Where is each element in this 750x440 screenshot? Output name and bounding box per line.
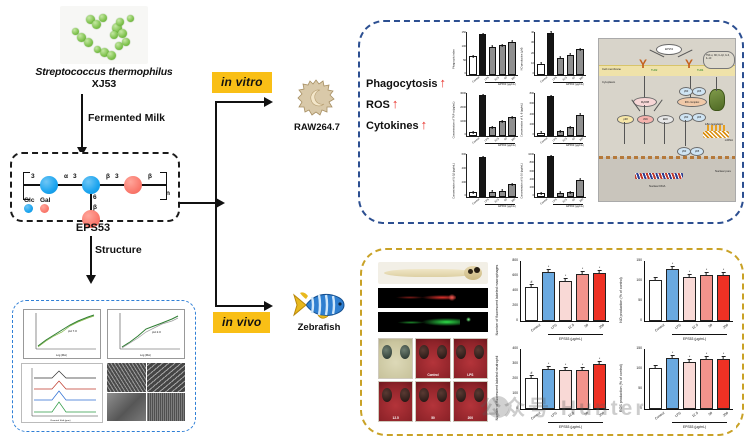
error-bar — [565, 367, 566, 371]
x-axis — [520, 409, 609, 410]
pathway-p50-upper: p50 — [679, 87, 693, 96]
x-tick-label: LPS — [484, 198, 492, 206]
svg-text:pH 7.0: pH 7.0 — [68, 329, 77, 333]
pathway-jnk: JNK — [637, 115, 654, 124]
significance-marker: * — [548, 265, 549, 269]
effect-label: Phagocytosis — [366, 78, 438, 90]
significance-marker: * — [672, 262, 673, 266]
group-label: EPS53 (μg/mL) — [566, 83, 584, 86]
y-axis-label: NO production (μM) — [521, 36, 524, 82]
effect-label: ROS — [366, 99, 390, 111]
in-vitro-chart-grid: Phagocytic index 150100500 * * * * * — [455, 30, 591, 212]
bar: * — [469, 192, 476, 197]
head-panel-dose-mid: 50 — [415, 381, 450, 422]
significance-marker: * — [512, 40, 513, 44]
error-bar — [723, 356, 724, 360]
sem-image-grid — [107, 363, 185, 421]
error-bar — [565, 278, 566, 282]
significance-marker: * — [560, 191, 561, 195]
group-label: EPS53 (μg/mL) — [683, 337, 706, 341]
significance-marker: * — [512, 182, 513, 186]
bar — [649, 280, 662, 321]
invitro-bar-chart: NO production (μM) 403020100 * * * * * — [523, 30, 587, 87]
mrna-strand — [703, 131, 729, 138]
significance-marker: * — [502, 43, 503, 47]
x-tick-label: LPS — [675, 323, 686, 335]
error-bar — [655, 365, 656, 369]
bar: * — [547, 33, 554, 75]
bar: * — [666, 269, 679, 321]
bar: # — [525, 287, 538, 321]
bar: * — [717, 275, 730, 321]
y-axis — [520, 349, 521, 410]
error-bar — [672, 266, 673, 270]
bar: * — [683, 362, 696, 409]
pathway-p50-mid: p50 — [679, 113, 693, 122]
significance-marker: * — [472, 190, 473, 194]
strain-name: Streptococcus thermophilus — [8, 66, 200, 78]
x-tick-label: 50 — [708, 411, 717, 421]
x-tick-label: LPS — [484, 137, 492, 145]
bar-series: # * * * — [523, 262, 608, 321]
bar: * — [499, 121, 506, 136]
bar: * — [537, 133, 544, 136]
x-tick-label: Control — [540, 198, 550, 208]
invitro-bar-chart: Phagocytic index 150100500 * * * * * — [455, 30, 519, 87]
significance-marker: * — [550, 94, 551, 98]
x-tick-label: 200 — [722, 323, 732, 334]
head-panel-dose-low: 12.5 — [378, 381, 413, 422]
head-panel-untreated — [378, 338, 413, 379]
pathway-p65-mid: p65 — [692, 113, 706, 122]
characterization-panel: pH 7.0 Log (Mw) pH 2.0 Log (Mw) Chemical… — [12, 300, 196, 432]
effect-cytokines: Cytokines ↑ — [366, 120, 466, 132]
bar: * — [557, 58, 564, 75]
significance-marker: * — [482, 32, 483, 36]
bar: * — [542, 369, 555, 409]
bar-series: * * * * — [647, 350, 732, 409]
y-axis-label: Concentration of IL-6 (pg/mL) — [521, 97, 524, 143]
x-tick-label: 200 — [598, 411, 608, 422]
significance-marker: * — [580, 178, 581, 182]
y-axis — [644, 261, 645, 322]
bar: * — [469, 132, 476, 136]
significance-marker: * — [548, 362, 549, 366]
nmr-spectra-panel: Chemical Shift (ppm) — [21, 363, 103, 423]
x-tick-label: 12.5 — [691, 323, 702, 335]
bar: * — [537, 193, 544, 197]
signaling-pathway-figure: Cell membrane Cytoplasm EPS53 Y Y TLR2 T… — [598, 38, 736, 202]
y-tick-labels: 150100500 — [624, 259, 642, 322]
bar: * — [567, 127, 574, 136]
x-tick-label: Control — [472, 76, 482, 86]
in-vivo-chart-grid: Number of fluorescent labeled macrophage… — [494, 258, 740, 430]
significance-marker: * — [472, 54, 473, 58]
y-axis-label: Concentration of IL-10 (pg/mL) — [521, 158, 524, 204]
structure-arrow — [90, 236, 92, 276]
bar-series: * * * * * — [536, 155, 585, 197]
x-tick-label: LPS — [484, 76, 492, 84]
x-tick-label: 50 — [708, 323, 717, 333]
y-axis — [534, 93, 535, 137]
y-tick-labels: 8006004002000 — [500, 259, 518, 322]
bar: * — [542, 272, 555, 321]
x-tick-label: 12.5 — [691, 411, 702, 423]
bar: * — [700, 359, 713, 409]
x-tick-label: Control — [472, 137, 482, 147]
significance-marker: * — [560, 129, 561, 133]
sem-image-3 — [107, 393, 146, 422]
x-tick-label: Control — [654, 323, 669, 338]
bar: * — [576, 49, 583, 75]
head-panel-control: Control — [415, 338, 450, 379]
significance-marker: * — [582, 363, 583, 367]
significance-marker: * — [550, 30, 551, 34]
pathway-erk: ERK — [657, 115, 674, 124]
y-axis-label: ROS production (% of control) — [619, 343, 623, 433]
group-label: EPS53 (μg/mL) — [498, 144, 516, 147]
significance-marker: * — [472, 130, 473, 134]
significance-marker: * — [706, 268, 707, 272]
invivo-bar-chart: NO production (% of control) 150100500 * — [618, 258, 736, 342]
mrna-label: mRNA — [725, 138, 733, 142]
significance-marker: * — [492, 125, 493, 129]
error-bar — [706, 272, 707, 276]
gpc-plot-ph2: pH 2.0 Log (Mw) — [107, 309, 185, 359]
significance-marker: * — [540, 191, 541, 195]
x-tick-label: LPS — [552, 198, 560, 206]
error-bar — [548, 269, 549, 273]
error-bar — [689, 359, 690, 363]
head-panel-dose-high: 200 — [453, 381, 488, 422]
pathway-p50-nuclear: p50 — [677, 147, 691, 156]
eps-to-branch-arrow — [178, 202, 216, 204]
significance-marker: * — [512, 115, 513, 119]
x-tick-labels: ControlLPS12.550200 — [647, 411, 732, 421]
bar: * — [469, 56, 476, 75]
head-panel-caption: Control — [416, 373, 449, 377]
legend-swatch-glc — [24, 204, 33, 213]
significance-marker: * — [599, 266, 600, 270]
invitro-bar-chart: Concentration of IL-10 (pg/mL) 100080060… — [523, 152, 587, 209]
invivo-bar-chart: Number of fluorescent labeled macrophage… — [494, 258, 612, 342]
neutrophil-green-fluorescence-image — [378, 312, 488, 332]
nuclear-dna-label: Nuclear DNA — [649, 184, 665, 188]
bar: # — [525, 378, 538, 409]
error-bar — [599, 270, 600, 274]
bar: * — [717, 359, 730, 409]
bar: * — [576, 115, 583, 136]
x-tick-label: LPS — [552, 137, 560, 145]
invivo-bar-chart: Number of fluorescent labeled neutrophil… — [494, 346, 612, 430]
error-bar — [582, 367, 583, 371]
bar: * — [489, 192, 496, 197]
error-bar — [599, 361, 600, 365]
invitro-bar-chart: Concentration of IL-1β (pg/mL) 600400200… — [455, 152, 519, 209]
x-tick-label: Control — [540, 137, 550, 147]
macrophage-red-fluorescence-image — [378, 288, 488, 308]
bar: * — [479, 34, 486, 75]
bar: * — [559, 281, 572, 321]
bar: * — [489, 47, 496, 75]
invitro-bar-chart: Concentration of IL-6 (pg/mL) 8006004002… — [523, 91, 587, 148]
raw-cell-label: RAW264.7 — [278, 122, 356, 133]
sem-image-4 — [147, 393, 186, 422]
head-panel-caption: 50 — [416, 416, 449, 420]
group-label: EPS53 (μg/mL) — [566, 144, 584, 147]
tag-in-vivo: in vivo — [213, 312, 270, 333]
up-arrow-icon: ↑ — [421, 120, 428, 130]
svg-text:pH 2.0: pH 2.0 — [152, 330, 161, 334]
bar: * — [593, 273, 606, 321]
significance-marker: * — [582, 267, 583, 271]
bar: * — [700, 275, 713, 321]
significance-marker: * — [492, 189, 493, 193]
significance-marker: * — [550, 154, 551, 158]
bar: * — [479, 157, 486, 197]
svg-text:Chemical Shift (ppm): Chemical Shift (ppm) — [50, 419, 71, 422]
error-bar — [531, 284, 532, 288]
x-tick-label: 50 — [584, 323, 593, 333]
x-axis — [644, 409, 733, 410]
bar-series: * * * * * — [468, 33, 517, 75]
bar-series: * * * * * — [468, 155, 517, 197]
y-axis — [520, 261, 521, 322]
x-tick-label: 12.5 — [567, 323, 578, 335]
error-bar — [706, 356, 707, 360]
bar: * — [557, 193, 564, 197]
significance-marker: * — [492, 45, 493, 49]
significance-marker: * — [672, 351, 673, 355]
sugar-glucose-1 — [40, 176, 58, 194]
in-vitro-effects-list: Phagocytosis ↑ ROS ↑ Cytokines ↑ — [366, 78, 466, 141]
significance-marker: * — [689, 355, 690, 359]
significance-marker: * — [706, 352, 707, 356]
bar: * — [683, 277, 696, 321]
error-bar — [548, 366, 549, 370]
head-panel-caption: 12.5 — [379, 416, 412, 420]
y-axis — [466, 154, 467, 198]
group-label: EPS53 (μg/mL) — [566, 205, 584, 208]
y-axis-label: Number of fluorescent labeled neutrophil — [495, 343, 499, 433]
zebrafish-icon — [290, 290, 346, 320]
effect-ros: ROS ↑ — [366, 99, 466, 111]
bar: * — [508, 184, 515, 197]
structure-label: Structure — [95, 244, 142, 256]
x-tick-label: LPS — [675, 411, 686, 423]
x-tick-labels: ControlLPS12.550200 — [647, 323, 732, 333]
svg-text:Log (Mw): Log (Mw) — [140, 353, 151, 357]
x-tick-label: Control — [530, 323, 545, 338]
bar: * — [489, 127, 496, 136]
significance-marker: * — [570, 190, 571, 194]
bar: * — [479, 95, 486, 136]
legend-swatch-gal — [40, 204, 49, 213]
zebrafish-head-image-grid: Control LPS 12.5 50 200 — [378, 338, 488, 422]
zebrafish-label: Zebrafish — [282, 322, 356, 333]
bar: * — [547, 156, 554, 197]
macrophage-cell-icon — [296, 78, 336, 118]
bar: * — [537, 64, 544, 75]
zebrafish-brightfield-image — [378, 262, 488, 284]
up-arrow-icon: ↑ — [440, 78, 447, 88]
fermentation-arrow — [81, 94, 83, 148]
bar: * — [559, 370, 572, 409]
head-panel-lps: LPS — [453, 338, 488, 379]
head-panel-caption: LPS — [454, 373, 487, 377]
significance-marker: # — [531, 280, 533, 284]
error-bar — [655, 277, 656, 281]
y-tick-labels: 8006004002000 — [525, 93, 534, 137]
y-tick-labels: 403020100 — [525, 32, 534, 76]
ribosome-er-icon — [709, 89, 725, 111]
tag-in-vitro: in vitro — [212, 72, 272, 93]
y-axis — [466, 32, 467, 76]
x-tick-label: 200 — [722, 411, 732, 422]
y-axis — [534, 32, 535, 76]
bar: * — [508, 117, 515, 136]
significance-marker: * — [580, 47, 581, 51]
gpc-plot-ph7: pH 7.0 Log (Mw) — [23, 309, 101, 359]
bar: * — [508, 42, 515, 75]
bar: * — [567, 55, 574, 75]
effect-label: Cytokines — [366, 120, 419, 132]
group-label: EPS53 (μg/mL) — [559, 337, 582, 341]
y-axis-label: NO production (% of control) — [619, 255, 623, 345]
pathway-p38: p38 — [617, 115, 634, 124]
pathway-ligand-eps53: EPS53 — [656, 44, 682, 55]
svg-text:Log (Mw): Log (Mw) — [56, 353, 67, 357]
bar: * — [593, 364, 606, 409]
receptor-tlr4-icon: Y — [685, 59, 693, 69]
significance-marker: * — [540, 61, 541, 65]
error-bar — [723, 272, 724, 276]
error-bar — [672, 355, 673, 359]
eps53-structure-diagram: n 3 α 3 β 3 β 6 β Glc Gal — [10, 152, 180, 222]
streptococcus-image — [60, 6, 148, 64]
cell-membrane-label: Cell membrane — [602, 67, 621, 71]
x-axis — [644, 321, 733, 322]
cytoplasm-label: Cytoplasm — [602, 80, 615, 84]
bar: * — [499, 191, 506, 197]
bar: * — [666, 358, 679, 409]
y-tick-labels: 6004002000 — [457, 154, 466, 198]
sugar-glucose-2 — [82, 176, 100, 194]
invitro-bar-chart: Concentration of TNF-α (pg/mL) 300020001… — [455, 91, 519, 148]
error-bar — [689, 274, 690, 278]
significance-marker: * — [570, 52, 571, 56]
significance-marker: * — [482, 155, 483, 159]
y-axis-label: Phagocytic index — [453, 36, 456, 82]
bar-series: * * * * * — [536, 33, 585, 75]
legend-label-gal: Gal — [40, 197, 50, 204]
bar-series: * * * * * — [468, 94, 517, 136]
sem-image-2 — [147, 363, 186, 392]
y-axis-label: Number of fluorescent labeled macrophage… — [495, 255, 499, 345]
significance-marker: * — [723, 268, 724, 272]
in-vitro-branch-arrow — [215, 101, 264, 103]
y-tick-labels: 150100500 — [624, 347, 642, 410]
pathway-p65-nuclear: p65 — [690, 147, 704, 156]
y-axis — [644, 349, 645, 410]
x-tick-label: LPS — [551, 411, 562, 423]
up-arrow-icon: ↑ — [392, 99, 399, 109]
receptor-tlr2-icon: Y — [639, 59, 647, 69]
y-tick-labels: 3000200010000 — [457, 93, 466, 137]
legend-label-glc: Glc — [24, 197, 34, 204]
x-tick-label: Control — [530, 411, 545, 426]
receptor-tlr4-label: TLR4 — [697, 69, 703, 72]
bar-series: # * * * — [523, 350, 608, 409]
flow-trunk — [215, 101, 217, 307]
sem-image-1 — [107, 363, 146, 392]
bar: * — [576, 274, 589, 321]
x-axis — [520, 321, 609, 322]
y-tick-labels: 150100500 — [457, 32, 466, 76]
significance-marker: * — [580, 112, 581, 116]
significance-marker: * — [565, 274, 566, 278]
bar: * — [567, 192, 574, 197]
bar — [649, 368, 662, 409]
bar: * — [576, 370, 589, 409]
pathway-ikk-complex: IKK complex — [677, 97, 707, 107]
significance-marker: * — [599, 357, 600, 361]
bar: * — [557, 131, 564, 136]
significance-marker: * — [540, 130, 541, 134]
cytokine-output-cloud: TNF-α, NO, IL-1β, IL-6, IL-10 — [703, 51, 735, 69]
invivo-bar-chart: ROS production (% of control) 150100500 … — [618, 346, 736, 430]
bar: * — [547, 96, 554, 136]
group-label: EPS53 (μg/mL) — [498, 83, 516, 86]
error-bar — [531, 375, 532, 379]
x-tick-label: LPS — [552, 76, 560, 84]
x-tick-label: LPS — [551, 323, 562, 335]
nuclear-dna-helix — [635, 173, 683, 179]
x-tick-label: 50 — [584, 411, 593, 421]
significance-marker: * — [502, 188, 503, 192]
watermark-logo — [487, 396, 509, 418]
bar: * — [576, 180, 583, 197]
head-panel-caption: 200 — [454, 416, 487, 420]
x-tick-label: 12.5 — [567, 411, 578, 423]
significance-marker: * — [482, 93, 483, 97]
in-vivo-branch-arrow — [215, 305, 264, 307]
y-axis-label: Concentration of TNF-α (pg/mL) — [453, 97, 456, 143]
bar-series: * * * * — [647, 262, 732, 321]
x-tick-labels: ControlLPS12.550200 — [523, 323, 608, 333]
significance-marker: * — [565, 363, 566, 367]
x-tick-label: Control — [654, 411, 669, 426]
cytokine-cloud-text: TNF-α, NO, IL-1β, IL-6, IL-10 — [706, 55, 733, 61]
bar: * — [499, 45, 506, 75]
sugar-galactose-1 — [124, 176, 142, 194]
y-axis — [534, 154, 535, 198]
strain-code: XJ53 — [8, 78, 200, 90]
error-bar — [582, 271, 583, 275]
nuclear-pore-label: Nuclear pore — [715, 169, 731, 173]
eps53-label: EPS53 — [10, 222, 176, 234]
group-label: EPS53 (μg/mL) — [559, 425, 582, 429]
receptor-tlr2-label: TLR2 — [651, 69, 657, 72]
bar-series: * * * * * — [536, 94, 585, 136]
x-tick-label: Control — [472, 198, 482, 208]
pathway-p65-upper: p65 — [692, 87, 706, 96]
y-axis — [466, 93, 467, 137]
group-label: EPS53 (μg/mL) — [683, 425, 706, 429]
x-tick-label: 200 — [598, 323, 608, 334]
y-axis-label: Concentration of IL-1β (pg/mL) — [453, 158, 456, 204]
x-tick-labels: ControlLPS12.550200 — [523, 411, 608, 421]
